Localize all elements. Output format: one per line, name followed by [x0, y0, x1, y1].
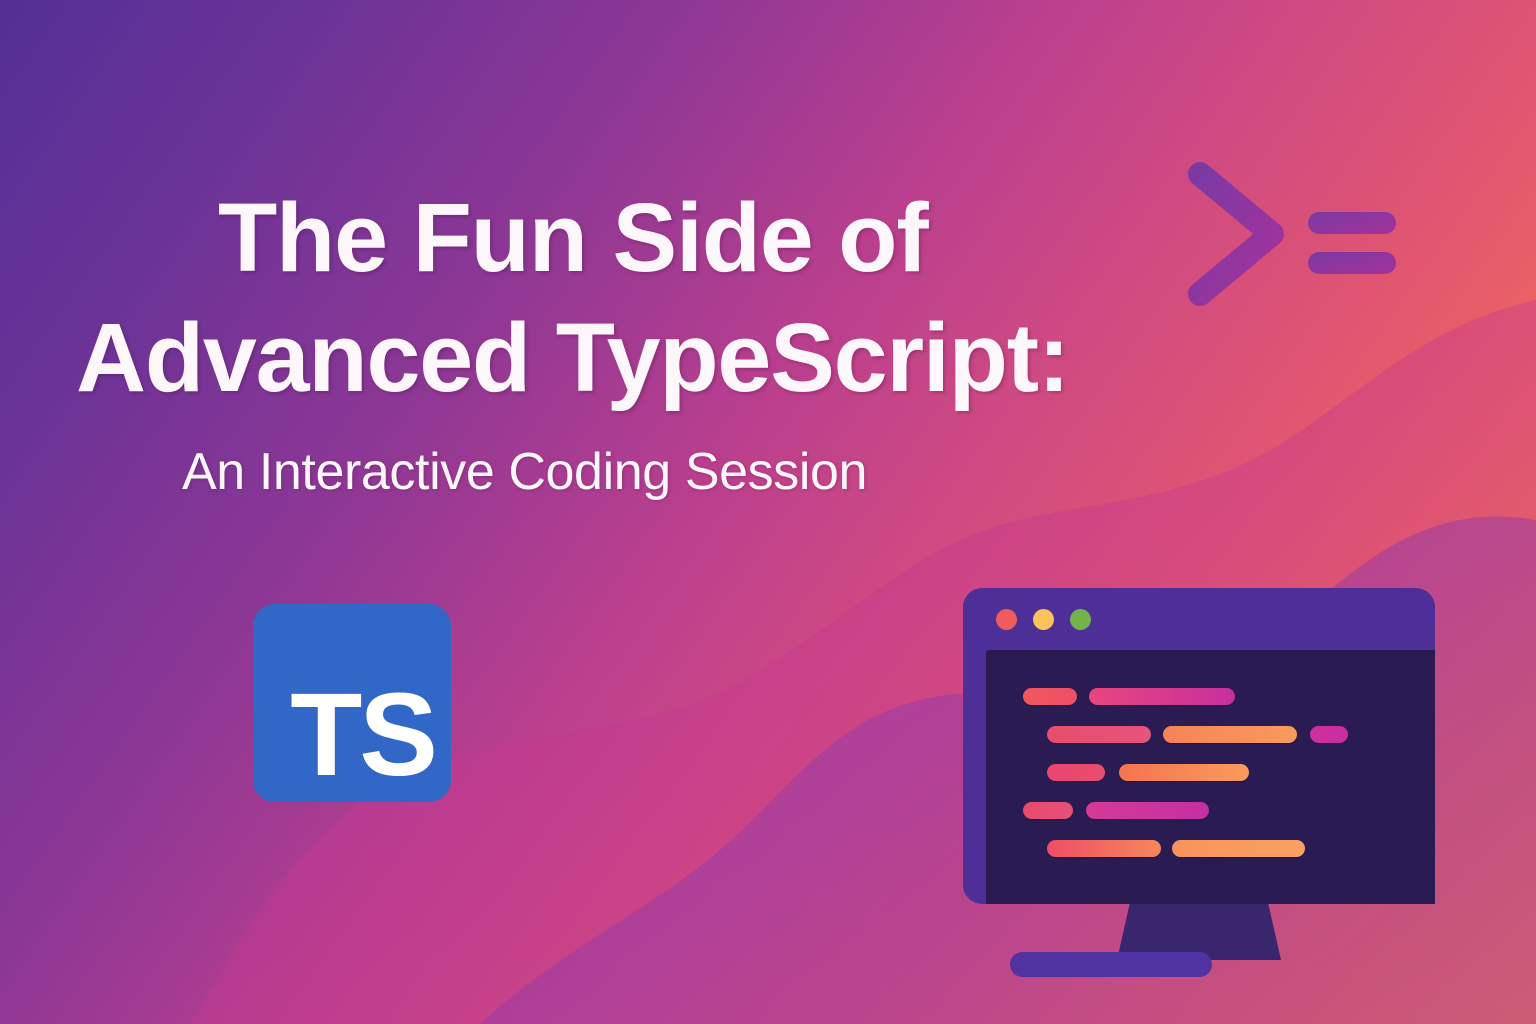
maximize-dot: [1070, 609, 1091, 630]
code-bar: [1172, 840, 1305, 857]
code-bar: [1119, 764, 1249, 781]
close-dot: [996, 609, 1017, 630]
code-bar: [1089, 688, 1235, 705]
code-monitor-illustration: [963, 588, 1435, 980]
code-bar: [1047, 840, 1161, 857]
monitor-screen: [986, 650, 1435, 904]
minimize-dot: [1033, 609, 1054, 630]
code-bar: [1163, 726, 1297, 743]
page-title: The Fun Side of Advanced TypeScript:: [70, 178, 1220, 419]
monitor-base: [1010, 952, 1212, 977]
equal-bar-bottom: [1308, 252, 1396, 274]
headline-line-1: The Fun Side of: [70, 178, 1220, 298]
monitor-neck: [1117, 898, 1281, 960]
typescript-logo: TS: [253, 604, 451, 802]
code-bar: [1023, 688, 1077, 705]
headline-line-2: Advanced TypeScript:: [70, 298, 1220, 418]
presentation-slide: The Fun Side of Advanced TypeScript: An …: [0, 0, 1536, 1024]
monitor-frame: [963, 588, 1435, 904]
code-bar: [1047, 764, 1105, 781]
greater-than-or-equal-icon: [1186, 160, 1402, 308]
code-bar: [1023, 802, 1073, 819]
typescript-logo-label: TS: [290, 679, 451, 802]
code-bar: [1310, 726, 1348, 743]
chevron-right-stroke: [1200, 174, 1272, 294]
page-subtitle: An Interactive Coding Session: [70, 441, 1220, 503]
equal-bar-top: [1308, 212, 1396, 234]
title-block: The Fun Side of Advanced TypeScript: An …: [70, 178, 1220, 503]
window-traffic-lights: [996, 609, 1091, 630]
code-bar: [1086, 802, 1209, 819]
code-bar: [1047, 726, 1151, 743]
code-lines: [986, 650, 1435, 904]
